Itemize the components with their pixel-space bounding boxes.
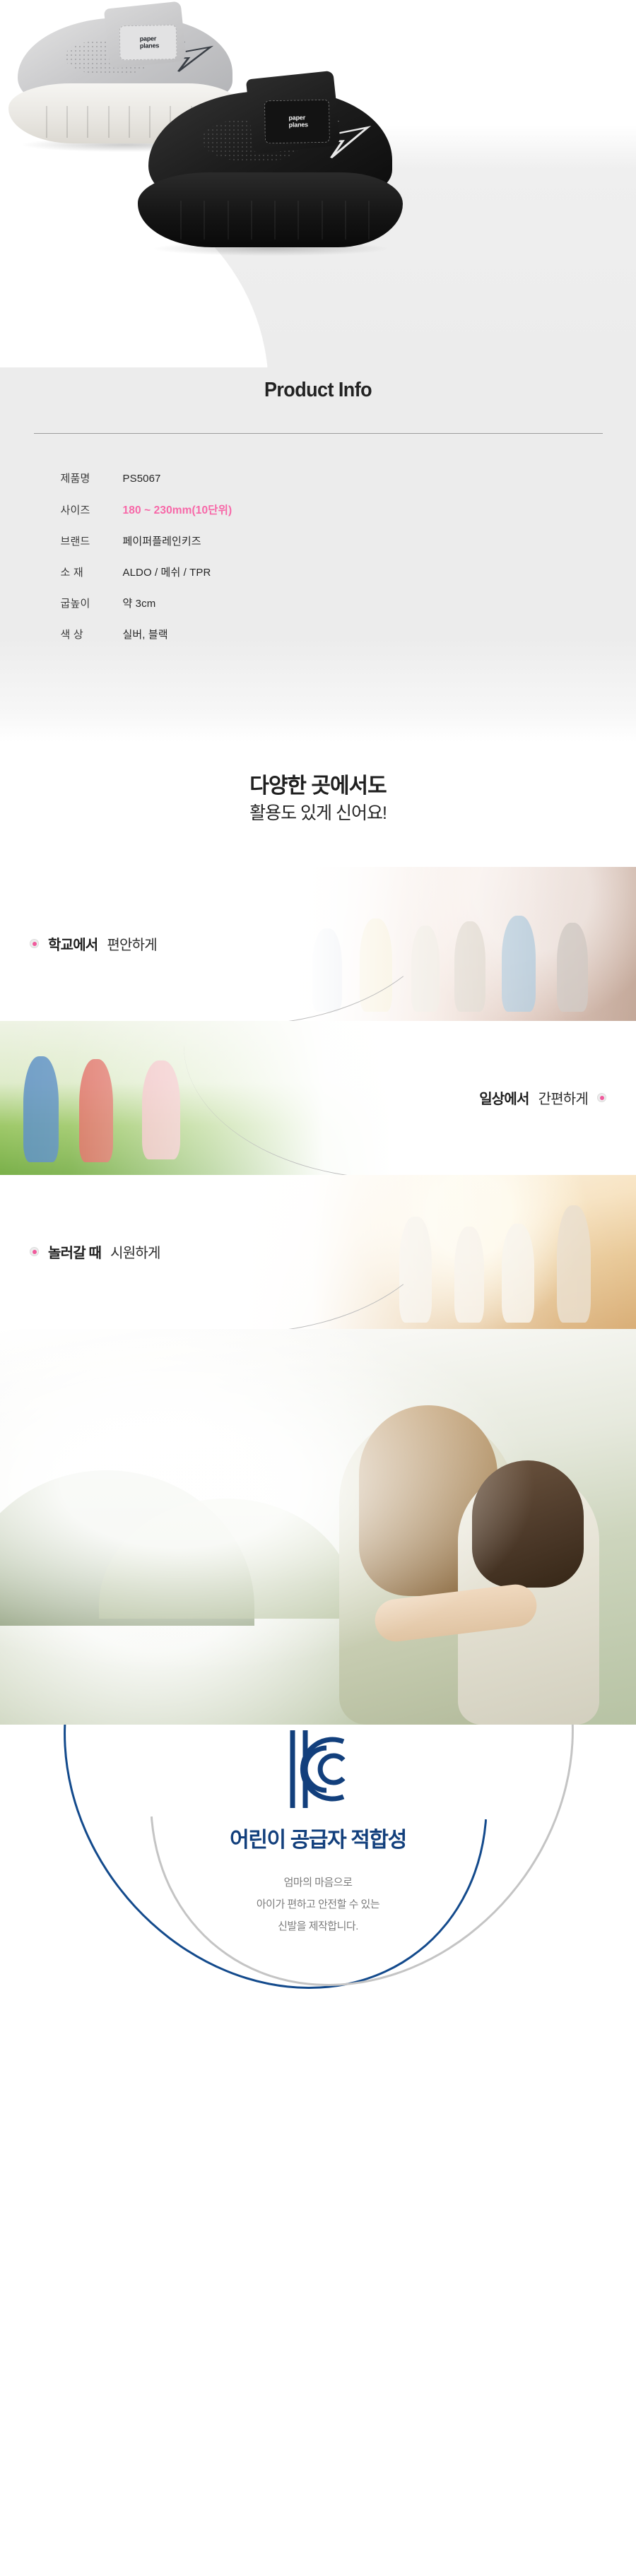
product-info-divider: [34, 433, 603, 434]
usage-headline-section: 다양한 곳에서도 활용도 있게 신어요!: [0, 743, 636, 867]
product-info-section: Product Info 제품명 PS5067 사이즈 180 ~ 230mm(…: [0, 367, 636, 743]
usage-card-school: 학교에서 편안하게: [0, 867, 636, 1021]
silver-shoe-brand-tag: paperplanes: [119, 25, 177, 61]
usage-headline-line2: 활용도 있게 신어요!: [0, 800, 636, 827]
table-row: 소 재 ALDO / 메쉬 / TPR: [34, 565, 603, 579]
bullet-dot-icon: [597, 1093, 606, 1102]
info-label: 색 상: [61, 627, 123, 642]
daily-card-label: 일상에서 간편하게: [479, 1087, 606, 1108]
field-photo-fade: [0, 1021, 394, 1175]
kc-body-line2: 아이가 편하고 안전할 수 있는: [0, 1893, 636, 1915]
beach-photo-fade: [242, 1175, 636, 1329]
info-value-size-accent: 180 ~ 230mm(10단위): [123, 502, 232, 517]
usage-card-light: 시원하게: [110, 1241, 160, 1262]
black-shoe-brand-tag: paperplanes: [264, 100, 329, 144]
school-photo-fade: [242, 867, 636, 1021]
photo-glow: [0, 1329, 636, 1725]
kc-body-line3: 신발을 제작합니다.: [0, 1915, 636, 1937]
school-card-label: 학교에서 편안하게: [30, 933, 157, 954]
kc-logo-icon: [284, 1726, 352, 1812]
info-value: 실버, 블랙: [123, 627, 168, 642]
mother-child-photo: [0, 1329, 636, 1725]
usage-card-daily: 일상에서 간편하게: [0, 1021, 636, 1175]
info-label: 소 재: [61, 565, 123, 579]
outing-card-label: 놀러갈 때 시원하게: [30, 1241, 160, 1262]
info-value: ALDO / 메쉬 / TPR: [123, 565, 211, 579]
usage-card-outing: 놀러갈 때 시원하게: [0, 1175, 636, 1329]
usage-card-light: 편안하게: [107, 933, 156, 954]
table-row: 사이즈 180 ~ 230mm(10단위): [34, 502, 603, 517]
black-shoe-tread: [180, 201, 382, 240]
product-info-table: 제품명 PS5067 사이즈 180 ~ 230mm(10단위) 브랜드 페이퍼…: [34, 471, 603, 642]
table-row: 브랜드 페이퍼플레인키즈: [34, 533, 603, 548]
usage-card-strong: 일상에서: [479, 1087, 529, 1108]
hero-section: paperplanes paperplanes: [0, 0, 636, 367]
kc-mark-wrapper: [0, 1726, 636, 1812]
info-value: 페이퍼플레인키즈: [123, 533, 201, 548]
silver-shoe-velcro-strap: paperplanes: [103, 1, 186, 69]
info-label: 굽높이: [61, 596, 123, 610]
usage-card-light: 간편하게: [538, 1087, 588, 1108]
usage-cards: 학교에서 편안하게 일상에서 간편하게: [0, 867, 636, 1329]
kc-body-line1: 엄마의 마음으로: [0, 1872, 636, 1893]
info-label: 브랜드: [61, 533, 123, 548]
usage-headline-line1: 다양한 곳에서도: [0, 772, 636, 800]
info-value: 약 3cm: [123, 596, 156, 610]
product-detail-page: paperplanes paperplanes: [0, 0, 636, 2011]
product-info-title: Product Info: [23, 367, 614, 402]
info-label: 사이즈: [61, 502, 123, 517]
table-row: 색 상 실버, 블랙: [34, 627, 603, 642]
usage-card-strong: 학교에서: [48, 933, 98, 954]
kc-body: 엄마의 마음으로 아이가 편하고 안전할 수 있는 신발을 제작합니다.: [0, 1872, 636, 1938]
bullet-dot-icon: [30, 939, 39, 948]
kc-certification-section: 어린이 공급자 적합성 엄마의 마음으로 아이가 편하고 안전할 수 있는 신발…: [0, 1725, 636, 2011]
usage-card-strong: 놀러갈 때: [48, 1241, 101, 1262]
black-shoe-image: paperplanes: [138, 85, 403, 247]
info-label: 제품명: [61, 471, 123, 485]
black-shoe-velcro-strap: paperplanes: [245, 71, 340, 154]
bullet-dot-icon: [30, 1247, 39, 1256]
table-row: 제품명 PS5067: [34, 471, 603, 485]
table-row: 굽높이 약 3cm: [34, 596, 603, 610]
info-value: PS5067: [123, 473, 161, 485]
kc-title: 어린이 공급자 적합성: [0, 1822, 636, 1853]
black-shoe-sole: [138, 172, 403, 247]
